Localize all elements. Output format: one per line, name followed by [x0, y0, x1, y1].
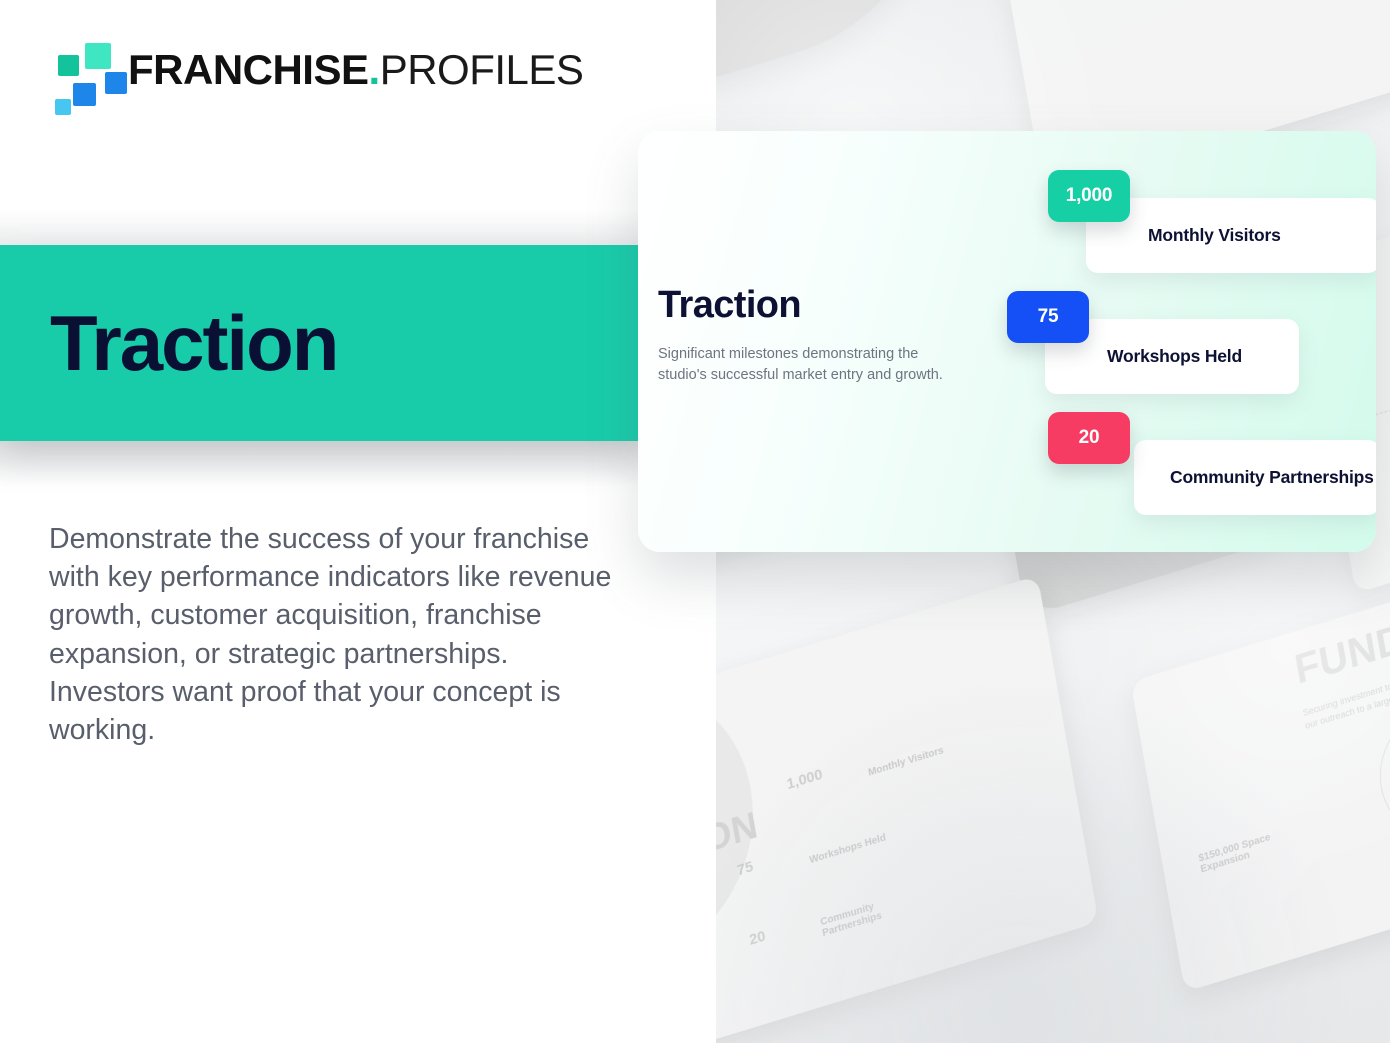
stat-value-2: 75	[1038, 306, 1059, 328]
collage-traction-label-0: Monthly Visitors	[867, 745, 944, 779]
brand-logo[interactable]: FRANCHISE.PROFILES	[46, 40, 583, 100]
stat-value-3: 20	[1079, 427, 1100, 449]
logo-word-profiles: PROFILES	[380, 46, 584, 93]
stat-row-monthly-visitors[interactable]: Monthly Visitors 1,000	[1048, 170, 1368, 264]
stat-label-2: Workshops Held	[1107, 346, 1242, 367]
slide-root: Lack of Accessibility High Cost Limited …	[0, 0, 1390, 1043]
collage-traction-label-2: Community Partnerships	[820, 896, 894, 939]
stat-badge-1: 1,000	[1048, 170, 1130, 222]
collage-problem-item-2: Limited Resources	[1210, 0, 1293, 1]
collage-traction-value-2: 20	[748, 928, 767, 949]
banner-bottom-shadow	[0, 441, 638, 487]
stat-label-3: Community Partnerships	[1170, 467, 1374, 488]
collage-traction-value-1: 75	[736, 859, 755, 880]
logo-square-blue-1	[73, 83, 96, 106]
collage-slide-partial-top	[716, 0, 973, 87]
stat-plate-3: Community Partnerships	[1134, 440, 1376, 515]
section-banner: Traction	[0, 245, 638, 441]
stat-value-1: 1,000	[1066, 185, 1113, 207]
logo-square-blue-2	[105, 72, 127, 94]
traction-preview-card[interactable]: Traction Significant milestones demonstr…	[638, 131, 1376, 552]
collage-slide-fundraising: FUNDRAISING Securing investment to scale…	[1130, 542, 1390, 992]
collage-traction-value-0: 1,000	[786, 767, 824, 794]
banner-top-shadow	[0, 210, 638, 246]
stat-row-workshops-held[interactable]: Workshops Held 75	[1007, 291, 1327, 385]
card-title: Traction	[658, 286, 978, 324]
logo-wordmark: FRANCHISE.PROFILES	[128, 49, 583, 91]
stat-badge-3: 20	[1048, 412, 1130, 464]
collage-slide-traction: TRACTION 1,000 Monthly Visitors 75 Works…	[716, 575, 1099, 1043]
logo-square-teal-light	[85, 43, 111, 69]
card-description: Significant milestones demonstrating the…	[658, 344, 958, 386]
collage-traction-label-1: Workshops Held	[809, 832, 887, 866]
section-description: Demonstrate the success of your franchis…	[49, 520, 629, 749]
logo-mark-icon	[46, 40, 106, 100]
logo-dot: .	[369, 46, 380, 93]
logo-square-teal-dark	[58, 55, 79, 76]
stat-row-community-partnerships[interactable]: Community Partnerships 20	[1048, 412, 1368, 506]
stat-badge-2: 75	[1007, 291, 1089, 343]
logo-word-franchise: FRANCHISE	[128, 46, 369, 93]
logo-square-cyan	[55, 99, 71, 115]
stat-label-1: Monthly Visitors	[1148, 225, 1281, 246]
page-title: Traction	[50, 304, 337, 382]
collage-fund-item-0: $150,000 Space Expansion	[1198, 821, 1307, 875]
card-text-block: Traction Significant milestones demonstr…	[658, 286, 978, 386]
